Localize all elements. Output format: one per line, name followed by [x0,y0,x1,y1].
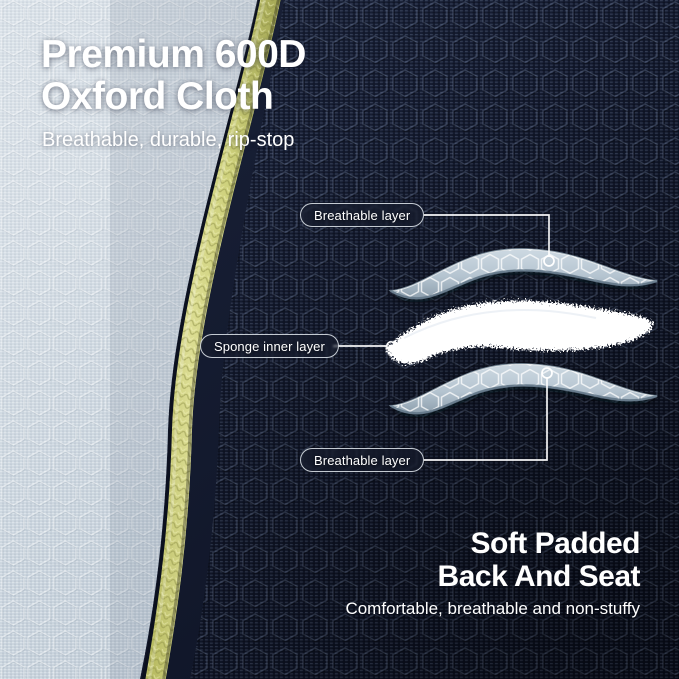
callout-breathable-layer-bottom: Breathable layer [300,448,424,472]
leader-line-breathable-bottom [424,378,547,460]
headline-subtitle: Breathable, durable, rip-stop [42,128,294,152]
leader-marker-breathable-bottom [542,368,552,378]
callout-sponge-inner-layer: Sponge inner layer [200,334,339,358]
leader-line-breathable-top [424,215,549,256]
callout-breathable-layer-top: Breathable layer [300,203,424,227]
bottom-headline-line-2: Back And Seat [210,560,640,593]
headline-block: Premium 600D Oxford Cloth [41,34,461,118]
leader-marker-breathable-top [544,256,554,266]
bottom-headline-line-1: Soft Padded [210,527,640,560]
product-feature-image: Premium 600D Oxford Cloth Breathable, du… [0,0,679,679]
bottom-headline-block: Soft Padded Back And Seat [210,527,640,593]
leader-marker-sponge [387,342,395,350]
bottom-subtitle: Comfortable, breathable and non-stuffy [345,598,640,619]
headline-line-2: Oxford Cloth [41,76,461,118]
headline-line-1: Premium 600D [41,34,461,76]
